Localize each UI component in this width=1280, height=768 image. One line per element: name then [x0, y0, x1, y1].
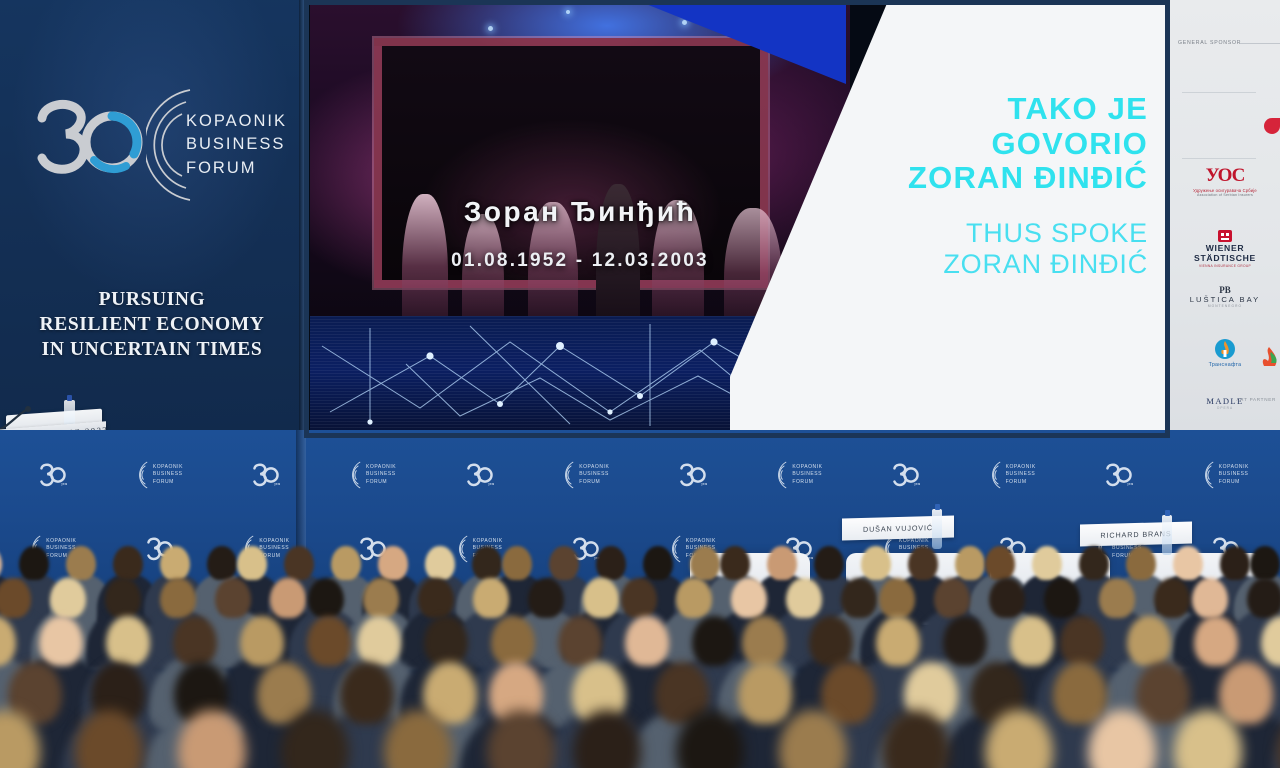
audience-member-head [742, 616, 786, 666]
arc-brackets-icon [1203, 460, 1216, 490]
sparkle [488, 26, 493, 31]
audience-member-head [340, 662, 394, 724]
tagline-line-2: RESILIENT ECONOMY [0, 313, 304, 338]
wiener-shield-icon [1218, 230, 1232, 242]
sparkle [566, 10, 570, 14]
backdrop-logo-cell: KOPAONIKBUSINESSFORUM [1173, 460, 1280, 490]
sponsor-lustica-monogram: PB [1170, 285, 1280, 295]
sponsor-uos-name: УОС [1170, 165, 1280, 187]
audience-member-head [106, 616, 150, 666]
sponsor-lustica-name: LUŠTICA BAY [1170, 295, 1280, 304]
audience-member-head [160, 546, 190, 580]
sponsor-uos: УОС Удружење осигуравача Србије Associat… [1170, 165, 1280, 197]
backdrop-wordmark: KOPAONIKBUSINESSFORUM [350, 460, 396, 490]
sponsor-wall: GENERAL SPONSOR УОС Удружење осигуравача… [1170, 0, 1280, 430]
backdrop-wordmark: KOPAONIKBUSINESSFORUM [137, 460, 183, 490]
audience-member-head [215, 578, 251, 618]
kopaonik-business-forum-logo: KOPAONIK BUSINESS FORUM [26, 88, 276, 208]
thirty-years-mark-icon: years [39, 462, 67, 488]
thirty-years-mark-icon: years [252, 462, 280, 488]
arc-brackets-icon [990, 460, 1003, 490]
audience-member-head [1053, 662, 1107, 724]
svg-text:years: years [914, 482, 920, 486]
audience-member-head [876, 616, 920, 666]
sponsor-wiener-subtitle: VIENNA INSURANCE GROUP [1170, 264, 1280, 268]
audience-member-head [1192, 578, 1228, 618]
transnafta-flame-icon [1214, 338, 1236, 360]
audience-member-head [1250, 546, 1280, 580]
audience-member-head [472, 546, 502, 580]
tagline-line-3: IN UNCERTAIN TIMES [0, 338, 304, 363]
backdrop-wordmark-text: KOPAONIKBUSINESSFORUM [366, 464, 396, 487]
audience-member-head [989, 578, 1025, 618]
backdrop-wordmark: KOPAONIKBUSINESSFORUM [1203, 460, 1249, 490]
brand-line-2: BUSINESS [186, 133, 306, 156]
headline-serbian: TAKO JE GOVORIO ZORAN ĐINĐIĆ [788, 92, 1148, 196]
sponsor-wiener-line-2: STÄDTISCHE [1170, 254, 1280, 264]
memorial-name: Зоран Ђинђић [310, 196, 850, 228]
audience-member-head [625, 616, 669, 666]
audience-member-head [1126, 546, 1156, 580]
audience-member-head [491, 616, 535, 666]
audience-member-head [879, 578, 915, 618]
audience-member-head [934, 578, 970, 618]
audience-member-head [173, 616, 217, 666]
audience-member-head [1219, 662, 1273, 724]
svg-text:years: years [62, 482, 68, 486]
audience-member-head [105, 578, 141, 618]
arc-brackets-icon [350, 460, 363, 490]
sponsor-madle-opera: MADLE OPERA [1170, 396, 1280, 410]
audience-member-head [1127, 616, 1171, 666]
audience-member-head [596, 546, 626, 580]
audience-member-head [331, 546, 361, 580]
audience-member-head [943, 616, 987, 666]
audience-member-head [643, 546, 673, 580]
backdrop-logo-cell: years [426, 460, 533, 490]
audience-member-head [549, 546, 579, 580]
audience-member-head [50, 578, 86, 618]
thirty-years-mark-icon: years [679, 462, 707, 488]
audience-member-head [583, 578, 619, 618]
backdrop-logo-cell: years [853, 460, 960, 490]
audience-member-head [985, 546, 1015, 580]
audience-member-head [1044, 578, 1080, 618]
audience-member-head [720, 546, 750, 580]
audience-member-head [160, 578, 196, 618]
backdrop-logo-cell: KOPAONIKBUSINESSFORUM [533, 460, 640, 490]
svg-text:years: years [1127, 482, 1133, 486]
partial-red-logo-icon [1264, 118, 1280, 134]
audience-member-head [861, 546, 891, 580]
backdrop-logo-cell: years [1066, 460, 1173, 490]
brand-line-1: KOPAONIK [186, 110, 306, 133]
event-tagline: PURSUING RESILIENT ECONOMY IN UNCERTAIN … [0, 288, 304, 363]
audience-member-head [841, 578, 877, 618]
audience-member-head [955, 546, 985, 580]
partial-flame-logo-icon [1258, 345, 1280, 367]
audience-member-head [1173, 546, 1203, 580]
svg-text:years: years [701, 482, 707, 486]
audience-member-head [357, 616, 401, 666]
backdrop-wordmark-text: KOPAONIKBUSINESSFORUM [153, 464, 183, 487]
memorial-dates: 01.08.1952 - 12.03.2003 [310, 250, 850, 272]
backdrop-logo-cell: KOPAONIKBUSINESSFORUM [746, 460, 853, 490]
sponsor-lustica-bay: PB LUŠTICA BAY MONTENEGRO [1170, 285, 1280, 308]
audience-member-head [1154, 578, 1190, 618]
audience-member-head [809, 616, 853, 666]
audience-member-head [1136, 662, 1190, 724]
audience-member-head [676, 578, 712, 618]
arc-brackets-icon [137, 460, 150, 490]
audience-member-head [308, 578, 344, 618]
audience-member-head [237, 546, 267, 580]
audience-member-head [425, 546, 455, 580]
conference-photo: KOPAONIK BUSINESS FORUM PURSUING RESILIE… [0, 0, 1280, 768]
audience-member-head [767, 546, 797, 580]
audience-member-head [528, 578, 564, 618]
audience-member-head [692, 616, 736, 666]
audience-member-head [502, 546, 532, 580]
audience-member-head [621, 578, 657, 618]
backdrop-logo-cell: years [640, 460, 747, 490]
backdrop-logo-cell: KOPAONIKBUSINESSFORUM [107, 460, 214, 490]
backdrop-wordmark-text: KOPAONIKBUSINESSFORUM [1219, 464, 1249, 487]
backdrop-wordmark-text: KOPAONIKBUSINESSFORUM [1006, 464, 1036, 487]
led-presentation-screen: Зоран Ђинђић 01.08.1952 - 12.03.2003 [304, 0, 1170, 438]
backdrop-wordmark-text: KOPAONIKBUSINESSFORUM [792, 464, 822, 487]
audience-member-head [0, 546, 2, 580]
audience-member-head [558, 616, 602, 666]
audience-member-head [738, 662, 792, 724]
left-branding-wall: KOPAONIK BUSINESS FORUM PURSUING RESILIE… [0, 0, 304, 438]
audience-member-head [39, 616, 83, 666]
backdrop-wordmark-text: KOPAONIKBUSINESSFORUM [579, 464, 609, 487]
backdrop-logo-cell: years [0, 460, 107, 490]
audience-member-head [418, 578, 454, 618]
audience-member-head [378, 546, 408, 580]
divider [1182, 158, 1256, 159]
thirty-years-mark-icon: years [466, 462, 494, 488]
audience-member-head [207, 546, 237, 580]
audience-member-head [690, 546, 720, 580]
tagline-line-1: PURSUING [0, 288, 304, 313]
audience-member-head [814, 546, 844, 580]
sponsor-lustica-subtitle: MONTENEGRO [1170, 304, 1280, 308]
audience-member-head [731, 578, 767, 618]
audience-member-head [1060, 616, 1104, 666]
backdrop-wordmark: KOPAONIKBUSINESSFORUM [563, 460, 609, 490]
audience-member-head [424, 616, 468, 666]
backdrop-logo-cell: KOPAONIKBUSINESSFORUM [959, 460, 1066, 490]
sponsor-wiener-staedtische: WIENER STÄDTISCHE VIENNA INSURANCE GROUP [1170, 230, 1280, 268]
audience-member-head [1010, 616, 1054, 666]
audience-member-head [1220, 546, 1250, 580]
thirty-years-mark-icon [34, 96, 154, 192]
backdrop-wordmark: KOPAONIKBUSINESSFORUM [776, 460, 822, 490]
backdrop-logo-cell: KOPAONIKBUSINESSFORUM [320, 460, 427, 490]
audience [0, 520, 1280, 768]
general-sponsor-label: GENERAL SPONSOR [1178, 40, 1276, 46]
audience-member-head [270, 578, 306, 618]
svg-text:years: years [275, 482, 281, 486]
audience-member-head [1032, 546, 1062, 580]
backdrop-wordmark: KOPAONIKBUSINESSFORUM [990, 460, 1036, 490]
audience-member-head [284, 546, 314, 580]
audience-member-head [66, 546, 96, 580]
audience-member-head [473, 578, 509, 618]
svg-text:years: years [488, 482, 494, 486]
sponsor-madle-subtitle: OPERA [1170, 406, 1280, 410]
backdrop-logo-cell: years [213, 460, 320, 490]
audience-member-head [1194, 616, 1238, 666]
audience-member-head [113, 546, 143, 580]
divider [1182, 92, 1256, 93]
arc-brackets-icon [776, 460, 789, 490]
audience-member-head [1247, 578, 1280, 618]
sponsor-uos-subtitle-2: Association of Serbian Insurers [1170, 193, 1280, 197]
backdrop-logo-row: yearsKOPAONIKBUSINESSFORUMyearsKOPAONIKB… [0, 460, 1280, 490]
brand-wordmark: KOPAONIK BUSINESS FORUM [186, 110, 306, 180]
sparkle [682, 20, 687, 25]
headline-sr-line-2: GOVORIO [788, 127, 1148, 162]
audience-member-head [908, 546, 938, 580]
sponsor-madle-name: MADLE [1170, 396, 1280, 406]
thirty-years-mark-icon: years [892, 462, 920, 488]
audience-member-head [786, 578, 822, 618]
headline-sr-line-1: TAKO JE [788, 92, 1148, 127]
headline-sr-line-3: ZORAN ĐINĐIĆ [788, 161, 1148, 196]
audience-member-head [1079, 546, 1109, 580]
audience-member-head [19, 546, 49, 580]
audience-member-head [363, 578, 399, 618]
arc-brackets-icon [563, 460, 576, 490]
thirty-years-mark-icon: years [1105, 462, 1133, 488]
audience-member-head [1099, 578, 1135, 618]
audience-member-head [307, 616, 351, 666]
brand-line-3: FORUM [186, 157, 306, 180]
audience-member-head [240, 616, 284, 666]
